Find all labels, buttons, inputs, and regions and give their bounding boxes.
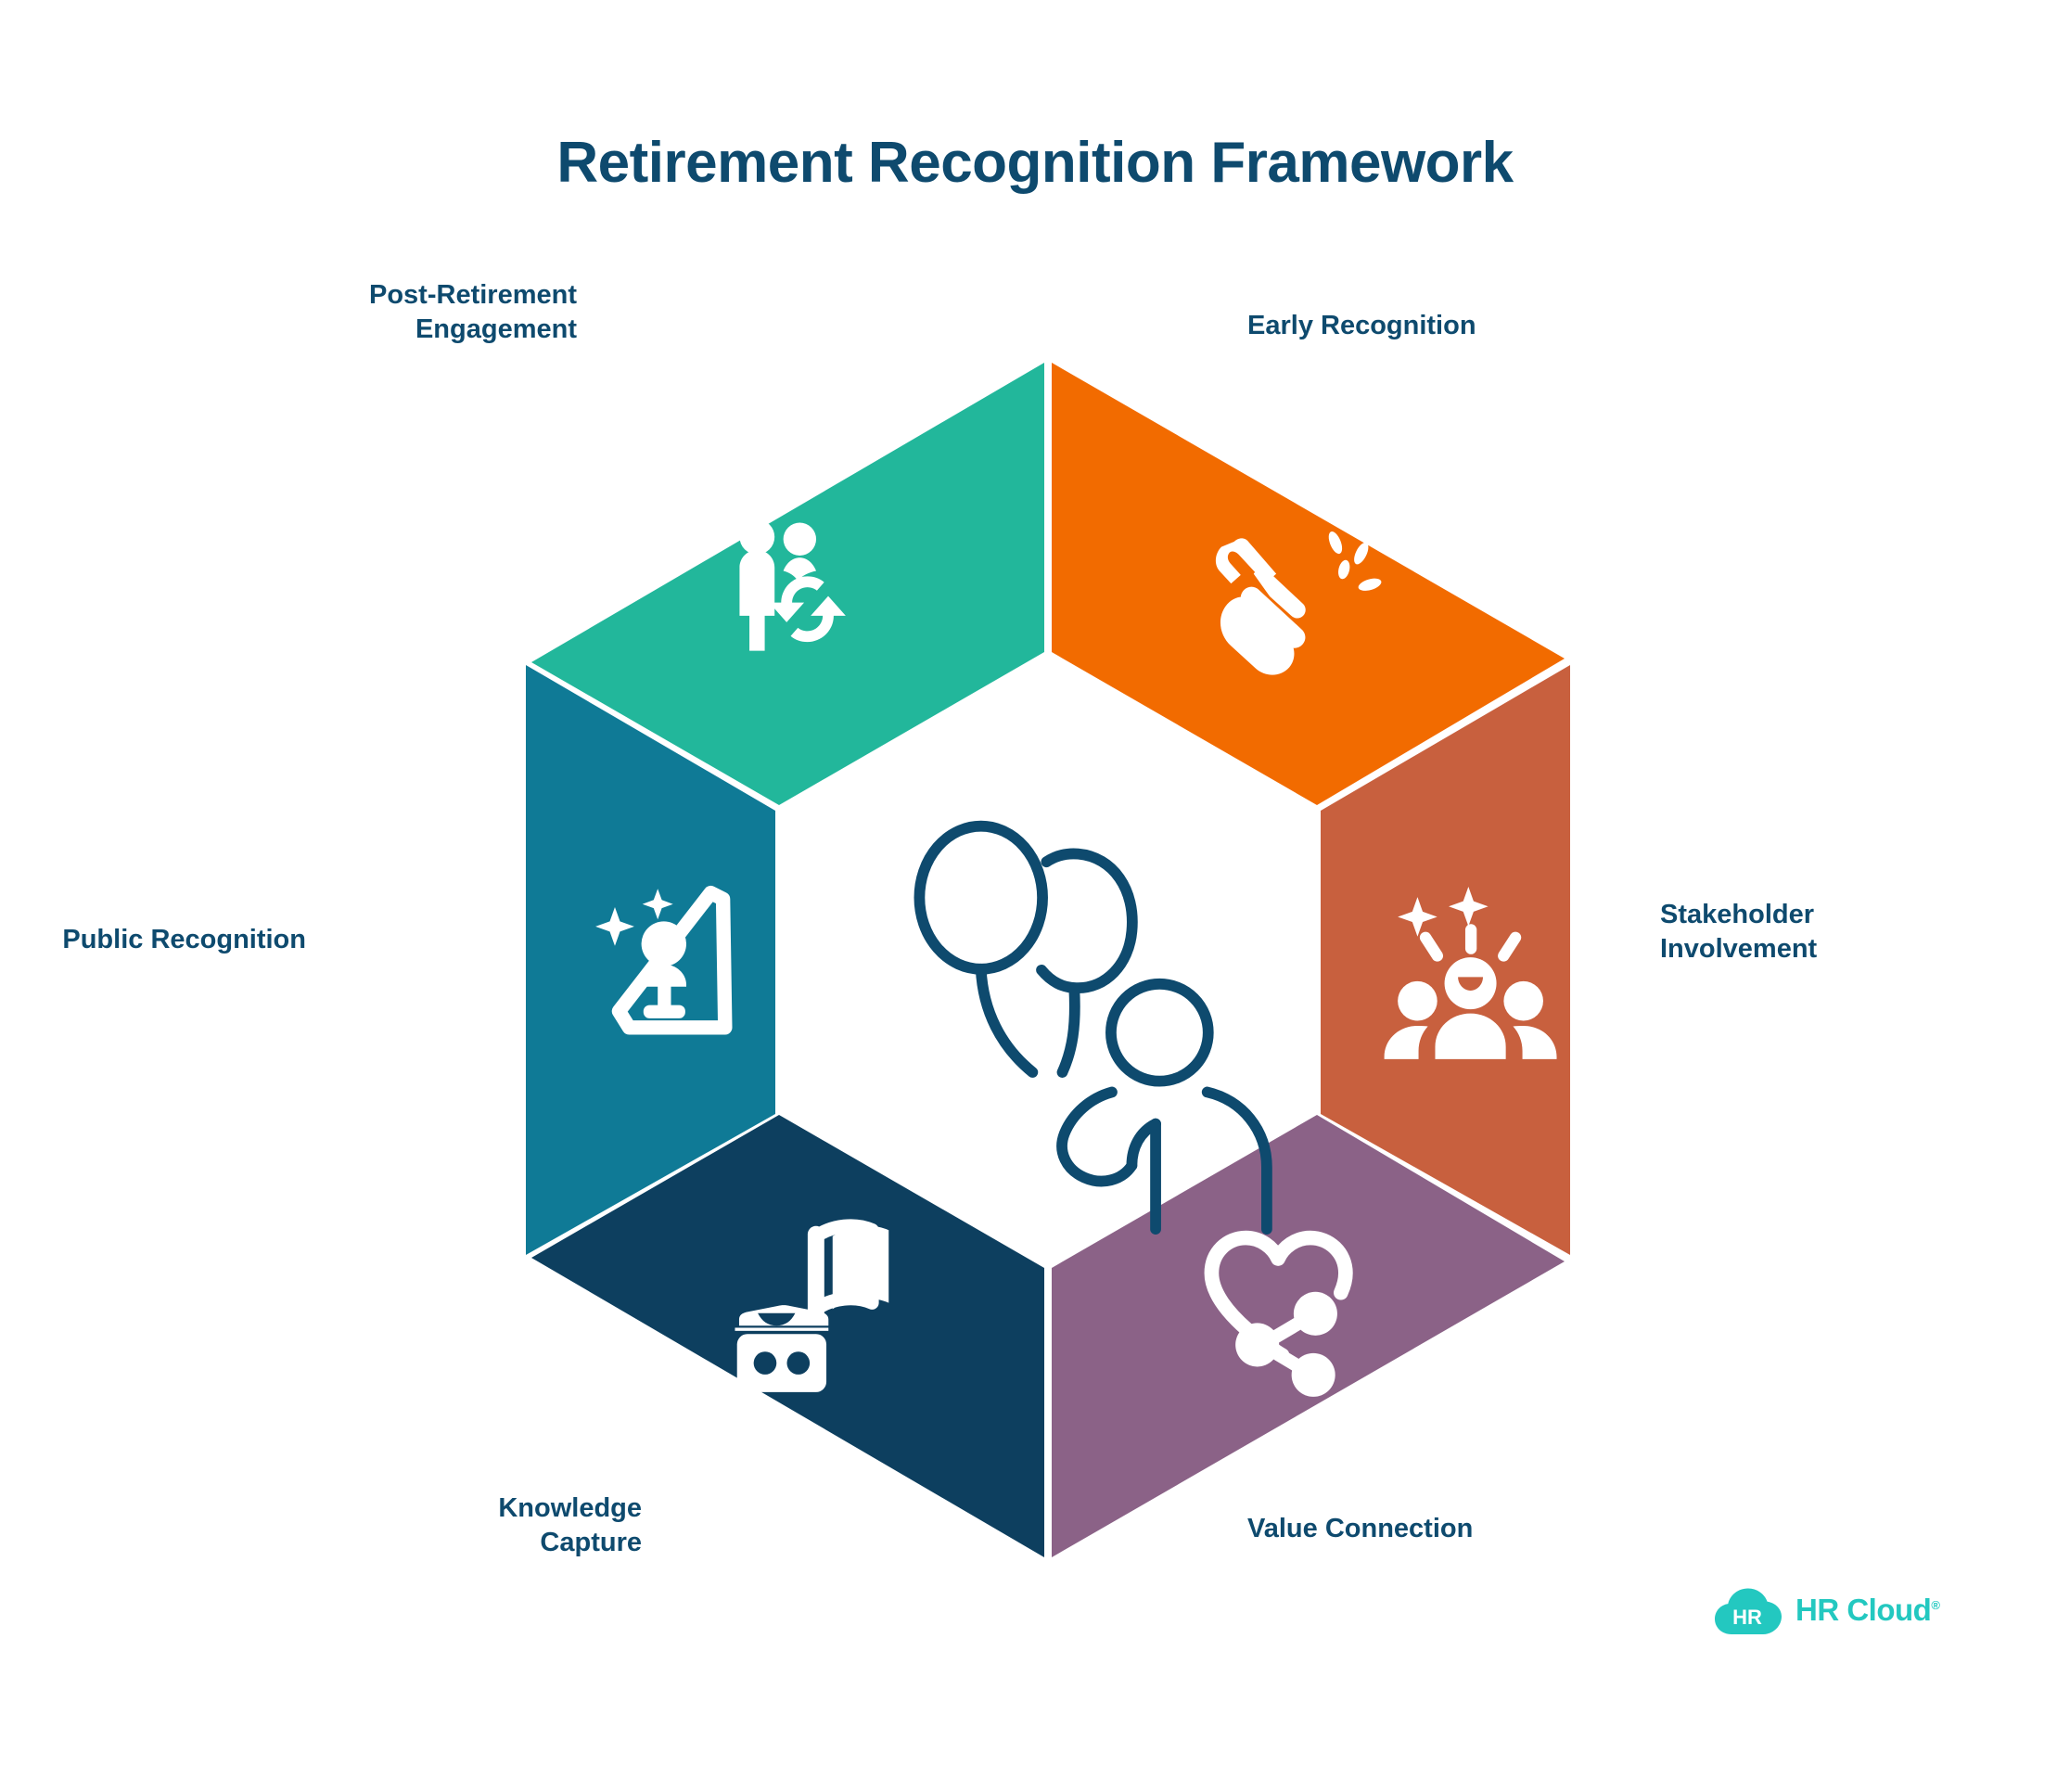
hr-cloud-logo: HR HR Cloud® — [1714, 1584, 1939, 1636]
segment-label-public-recognition: Public Recognition — [0, 923, 306, 957]
segment-label-post-retirement-engagement: Post-Retirement Engagement — [187, 278, 577, 347]
segment-label-early-recognition: Early Recognition — [1247, 309, 1637, 343]
hexagon-diagram — [501, 357, 1595, 1563]
hr-cloud-wordmark: HR Cloud® — [1795, 1593, 1939, 1628]
hr-cloud-mark-text: HR — [1732, 1606, 1762, 1629]
page-title: Retirement Recognition Framework — [0, 132, 2070, 195]
segment-label-stakeholder-involvement: Stakeholder Involvement — [1660, 898, 2050, 966]
hr-cloud-mark-icon: HR — [1714, 1584, 1782, 1636]
hr-cloud-trademark: ® — [1931, 1598, 1939, 1612]
hr-cloud-wordmark-text: HR Cloud — [1795, 1593, 1931, 1627]
infographic-canvas: Retirement Recognition Framework Post-Re… — [0, 0, 2070, 1792]
